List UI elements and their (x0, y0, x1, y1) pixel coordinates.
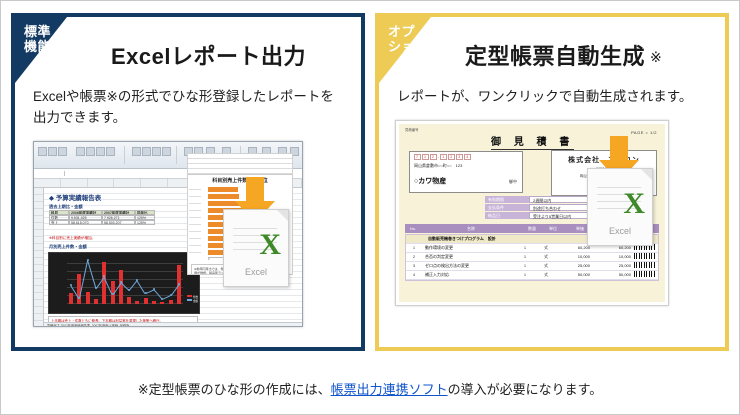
mini-td-1-3: 125% (135, 220, 155, 225)
excel-section2-label: 月別売上件数・金額 (49, 244, 87, 250)
footnote-prefix: ※定型帳票のひな形の作成には、 (138, 382, 331, 397)
chart-bar (94, 299, 98, 304)
form-th-unit: 単位 (543, 224, 563, 233)
form-th-name: 名称 (421, 224, 521, 233)
hbar-label: ―――― (189, 243, 201, 247)
panel-option-feature: オプ ション 定型帳票自動生成※ レポートが、ワンクリックで自動生成されます。 … (375, 13, 729, 351)
badge-standard-line2: 機能 (24, 39, 51, 54)
badge-option-text: オプ ション (388, 24, 429, 54)
form-table-row: 3ゼロ点の検出方法の変更1式25,00025,000 (406, 262, 658, 271)
footnote: ※定型帳票のひな形の作成には、帳票出力連携ソフトの導入が必要になります。 (1, 379, 739, 398)
legend-item-1: 金額 (193, 300, 198, 303)
hbar-axis-0: 0 (208, 258, 209, 261)
chart-bar (135, 301, 139, 304)
barcode-icon (634, 262, 656, 268)
hbar-label: ―――― (189, 215, 201, 219)
excel-row-headers[interactable] (34, 188, 44, 327)
hbar-label: ―――― (189, 208, 201, 212)
chart-bar (119, 270, 123, 304)
hbar-label: ―――― (189, 250, 201, 254)
hbar-label: ―――― (189, 201, 201, 205)
panel-option-title-mark: ※ (650, 49, 662, 65)
chart-bar (127, 297, 131, 304)
form-page-label: PAGE = 1/2 (631, 130, 657, 135)
chart-bar (169, 300, 173, 304)
mini-td-1-1: 58,615,070 (69, 220, 102, 225)
form-table-row: 2合否の判定変更1式10,00010,000 (406, 253, 658, 262)
badge-standard-text: 標準 機能 (24, 24, 51, 54)
excel-status-bar: 準備完了 2007年度実績報告表_2007年度売上実績_最終版 (44, 322, 302, 327)
chart-bar (152, 301, 156, 303)
panel-option-title-text: 定型帳票自動生成 (465, 44, 645, 69)
excel-screenshot-area: ◆ 予算実績報告表 過去上期比・金額 科目 2006年度実績計 2007年度実績… (27, 139, 349, 325)
page-root: 標準 機能 Excelレポート出力 Excelや帳票※の形式でひな形登録したレポ… (0, 0, 740, 415)
footnote-link[interactable]: 帳票出力連携ソフト (331, 382, 448, 397)
barcode-icon (634, 253, 656, 259)
chart-bar (69, 293, 73, 304)
cond-key-0: 有効期限 (485, 196, 529, 203)
form-customer-name: ○カワ物産 (414, 176, 446, 186)
badge-option: オプ ション (379, 17, 483, 83)
excel-red-note: ※科目別に売上実績が増加。 (49, 236, 95, 241)
form-th-no: No. (405, 224, 421, 233)
page-fold-corner (277, 210, 288, 221)
form-customer-honorific: 御中 (509, 179, 517, 185)
hbar-label: ―――― (189, 187, 201, 191)
chart-bar (144, 298, 148, 304)
panel-standard-title-text: Excelレポート出力 (111, 44, 306, 69)
badge-standard-line1: 標準 (24, 24, 51, 39)
cond-key-2: 納品日 (485, 212, 529, 219)
excel-icon-caption: Excel (588, 226, 652, 236)
excel-icon-caption: Excel (224, 267, 288, 277)
combo-chart-plot (67, 256, 183, 304)
chart-line-point (178, 283, 180, 285)
excel-file-icon: X Excel (587, 168, 653, 246)
form-table-row: 4補正入力対応1式50,00050,000 (406, 271, 658, 280)
excel-file-icon: X Excel (223, 209, 289, 287)
form-doc-number-label: 見積番号 (405, 127, 419, 132)
form-customer-box: 712-1234 岡山県倉敷市○○町○○ 123 ○カワ物産 御中 (409, 151, 523, 193)
excel-pane2-table (188, 154, 292, 175)
chart-bar (86, 292, 90, 304)
hbar-label: ―――― (189, 222, 201, 226)
hbar-label: ―――― (189, 229, 201, 233)
badge-option-line2: ション (388, 39, 429, 54)
form-th-qty: 数量 (521, 224, 543, 233)
footnote-suffix: の導入が必要になります。 (448, 382, 603, 397)
mini-td-1-0: 売上 (49, 220, 69, 225)
excel-x-letter: X (623, 189, 645, 219)
badge-standard: 標準 機能 (15, 17, 119, 83)
combo-chart-legend: 件数 金額 (187, 295, 198, 303)
panel-standard-feature: 標準 機能 Excelレポート出力 Excelや帳票※の形式でひな形登録したレポ… (11, 13, 365, 351)
page-fold-corner (641, 169, 652, 180)
hbar-label: ―――― (189, 236, 201, 240)
chart-bar (160, 302, 164, 304)
excel-combo-chart: 件数 金額 (48, 252, 200, 314)
excel-sheet-title: ◆ 予算実績報告表 (49, 192, 101, 202)
feature-panels: 標準 機能 Excelレポート出力 Excelや帳票※の形式でひな形登録したレポ… (1, 1, 739, 351)
barcode-icon (634, 271, 656, 277)
excel-mini-table: 科目 2006年度実績計 2007年度実績計 前年比 件数 9,531,025 … (49, 210, 157, 225)
chart-line-segment (87, 260, 96, 288)
hbar-label: ―――― (189, 194, 201, 198)
form-customer-address: 岡山県倉敷市○○町○○ 123 (414, 163, 462, 169)
excel-export-indicator-right: X Excel (587, 136, 651, 246)
excel-x-letter: X (259, 230, 281, 260)
badge-option-line1: オプ (388, 24, 429, 39)
form-title: 御 見 積 書 (491, 133, 574, 150)
form-customer-zip: 712-1234 (414, 155, 472, 159)
cond-key-1: 支払条件 (485, 204, 529, 211)
mini-td-1-2: 58,500,207 (102, 220, 135, 225)
excel-export-indicator-left: X Excel (223, 177, 287, 287)
estimate-form-area: 見積番号 PAGE = 1/2 御 見 積 書 712-1234 岡山県倉敷市○… (391, 118, 713, 304)
